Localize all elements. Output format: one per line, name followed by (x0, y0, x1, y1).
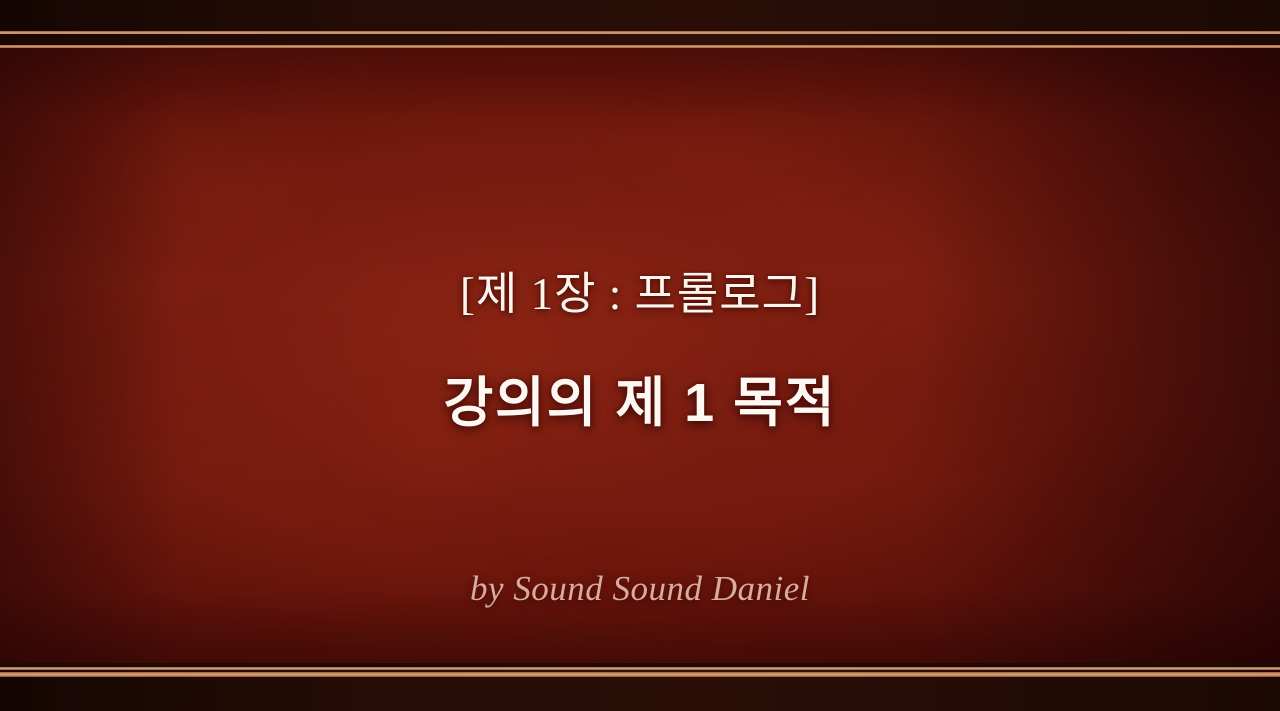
page-title: 강의의 제 1 목적 (0, 358, 1280, 437)
title-slide: [제 1장 : 프롤로그] 강의의 제 1 목적 by Sound Sound … (0, 0, 1280, 711)
slide-content: [제 1장 : 프롤로그] 강의의 제 1 목적 by Sound Sound … (0, 48, 1280, 663)
top-rule-gap (0, 34, 1280, 45)
bottom-letterbox-band (0, 677, 1280, 711)
top-letterbox-band (0, 0, 1280, 31)
chapter-label: [제 1장 : 프롤로그] (0, 257, 1280, 322)
author-byline: by Sound Sound Daniel (0, 569, 1280, 609)
slide-stage: [제 1장 : 프롤로그] 강의의 제 1 목적 by Sound Sound … (0, 48, 1280, 663)
